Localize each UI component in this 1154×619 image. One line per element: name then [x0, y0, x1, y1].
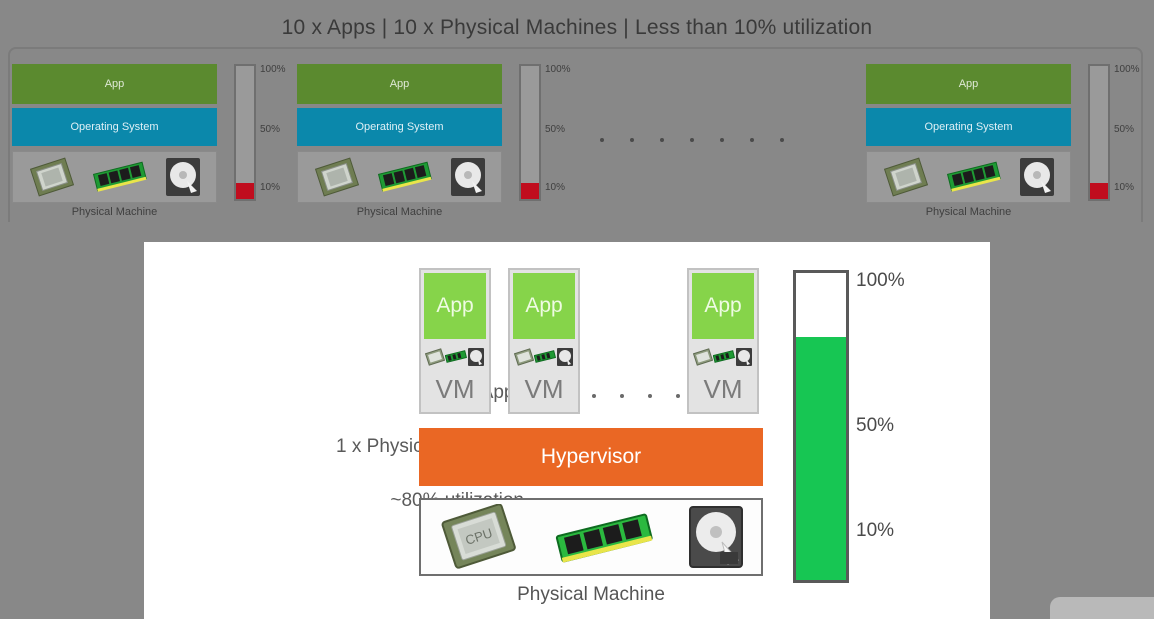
hdd-icon — [163, 155, 203, 199]
gauge-label-100: 100% — [1114, 64, 1140, 75]
ellipsis-dot — [620, 394, 624, 398]
top-section-title: 10 x Apps | 10 x Physical Machines | Les… — [0, 16, 1154, 40]
cpu-icon — [26, 157, 78, 197]
physical-machine-caption: Physical Machine — [866, 206, 1071, 218]
app-block: App — [297, 64, 502, 104]
vm-box-3: App — [687, 268, 759, 414]
hdd-icon — [735, 347, 753, 367]
vm-app-block: App — [692, 273, 754, 339]
vm-hardware-row — [689, 342, 757, 372]
operating-system-block: Operating System — [297, 108, 502, 146]
ellipsis-dot — [592, 394, 596, 398]
cpu-icon — [880, 157, 932, 197]
cpu-icon — [514, 348, 534, 366]
ellipsis-dot — [600, 138, 604, 142]
physical-machine-group-3: App Operating System — [866, 64, 1128, 219]
bottom-right-corner-shape — [1050, 597, 1154, 619]
gauge-label-100: 100% — [856, 270, 905, 292]
gauge-fill — [521, 183, 539, 199]
gauge-fill — [236, 183, 254, 199]
ram-icon — [376, 159, 434, 195]
gauge-label-50: 50% — [856, 415, 894, 437]
cpu-icon — [693, 348, 713, 366]
utilization-gauge — [1088, 64, 1110, 201]
cpu-icon — [311, 157, 363, 197]
hardware-row — [866, 151, 1071, 203]
gauge-fill — [1090, 183, 1108, 199]
host-gauge-scale-labels: 100% 50% 10% — [856, 260, 946, 590]
cpu-icon — [425, 348, 445, 366]
host-hardware-row: CPU — [419, 498, 763, 576]
vm-box-1: App — [419, 268, 491, 414]
ellipsis-dots — [600, 138, 784, 142]
app-block: App — [866, 64, 1071, 104]
app-block: App — [12, 64, 217, 104]
ram-icon — [713, 349, 735, 365]
utilization-gauge — [234, 64, 256, 201]
ellipsis-dot — [780, 138, 784, 142]
physical-machine-group-1: App Operating System — [12, 64, 274, 219]
ellipsis-dot — [750, 138, 754, 142]
ram-icon — [534, 349, 556, 365]
vm-name: VM — [689, 372, 757, 406]
gauge-label-100: 100% — [260, 64, 286, 75]
gauge-label-10: 10% — [545, 182, 565, 193]
hdd-icon — [448, 155, 488, 199]
host-utilization-gauge — [793, 270, 849, 583]
physical-machine-stack: App Operating System — [12, 64, 217, 218]
ellipsis-dot — [676, 394, 680, 398]
cpu-icon: CPU — [436, 504, 522, 570]
vm-app-block: App — [513, 273, 575, 339]
physical-machine-caption: Physical Machine — [297, 206, 502, 218]
vm-hardware-row — [510, 342, 578, 372]
operating-system-block: Operating System — [12, 108, 217, 146]
physical-machine-group-2: App Operating System — [297, 64, 559, 219]
gauge-label-10: 10% — [1114, 182, 1134, 193]
ram-icon — [445, 349, 467, 365]
ram-icon — [945, 159, 1003, 195]
hdd-icon — [556, 347, 574, 367]
vm-app-block: App — [424, 273, 486, 339]
physical-machine-caption: Physical Machine — [12, 206, 217, 218]
gauge-label-50: 50% — [260, 124, 280, 135]
ellipsis-dot — [630, 138, 634, 142]
utilization-gauge — [519, 64, 541, 201]
gauge-label-10: 10% — [856, 520, 894, 542]
ellipsis-dot — [660, 138, 664, 142]
hardware-row — [297, 151, 502, 203]
hardware-row — [12, 151, 217, 203]
host-physical-machine-caption: Physical Machine — [419, 584, 763, 606]
ellipsis-dot — [690, 138, 694, 142]
ram-icon — [552, 509, 656, 565]
vm-box-2: App — [508, 268, 580, 414]
slide-canvas: 10 x Apps | 10 x Physical Machines | Les… — [0, 0, 1154, 619]
hdd-icon — [686, 504, 746, 570]
gauge-label-100: 100% — [545, 64, 571, 75]
hypervisor-bar: Hypervisor — [419, 428, 763, 486]
gauge-fill — [796, 337, 846, 580]
vm-hardware-row — [421, 342, 489, 372]
operating-system-block: Operating System — [866, 108, 1071, 146]
gauge-label-10: 10% — [260, 182, 280, 193]
physical-machine-stack: App Operating System — [297, 64, 502, 218]
vm-name: VM — [421, 372, 489, 406]
virtualization-panel: 10 x Apps 1 x Physical Machines ~80% uti… — [144, 242, 990, 619]
vm-name: VM — [510, 372, 578, 406]
gauge-label-50: 50% — [1114, 124, 1134, 135]
hdd-icon — [467, 347, 485, 367]
ram-icon — [91, 159, 149, 195]
hdd-icon — [1017, 155, 1057, 199]
ellipsis-dot — [648, 394, 652, 398]
ellipsis-dot — [720, 138, 724, 142]
gauge-label-50: 50% — [545, 124, 565, 135]
physical-machine-stack: App Operating System — [866, 64, 1071, 218]
